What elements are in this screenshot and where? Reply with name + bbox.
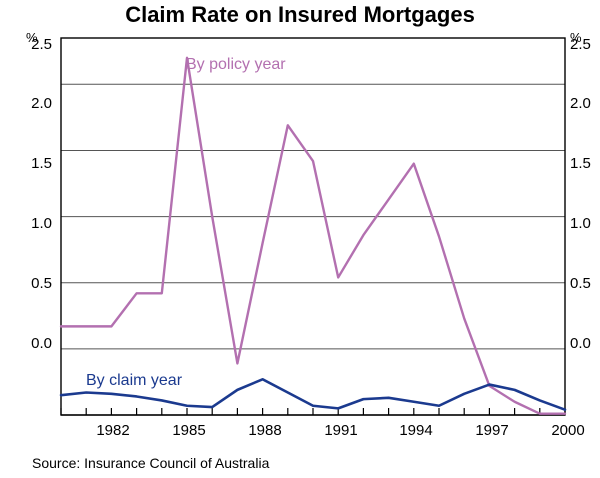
source-note: Source: Insurance Council of Australia (32, 455, 269, 471)
data-lines (61, 58, 565, 414)
plot-border (61, 38, 565, 415)
plot-frame (61, 38, 565, 415)
chart-plot-area (0, 0, 600, 478)
x-axis-ticks (61, 408, 565, 415)
chart-figure: Claim Rate on Insured Mortgages % % 0.0 … (0, 0, 600, 478)
gridlines (61, 84, 565, 415)
series-line-policy-year (61, 58, 565, 414)
series-line-claim-year (61, 379, 565, 409)
